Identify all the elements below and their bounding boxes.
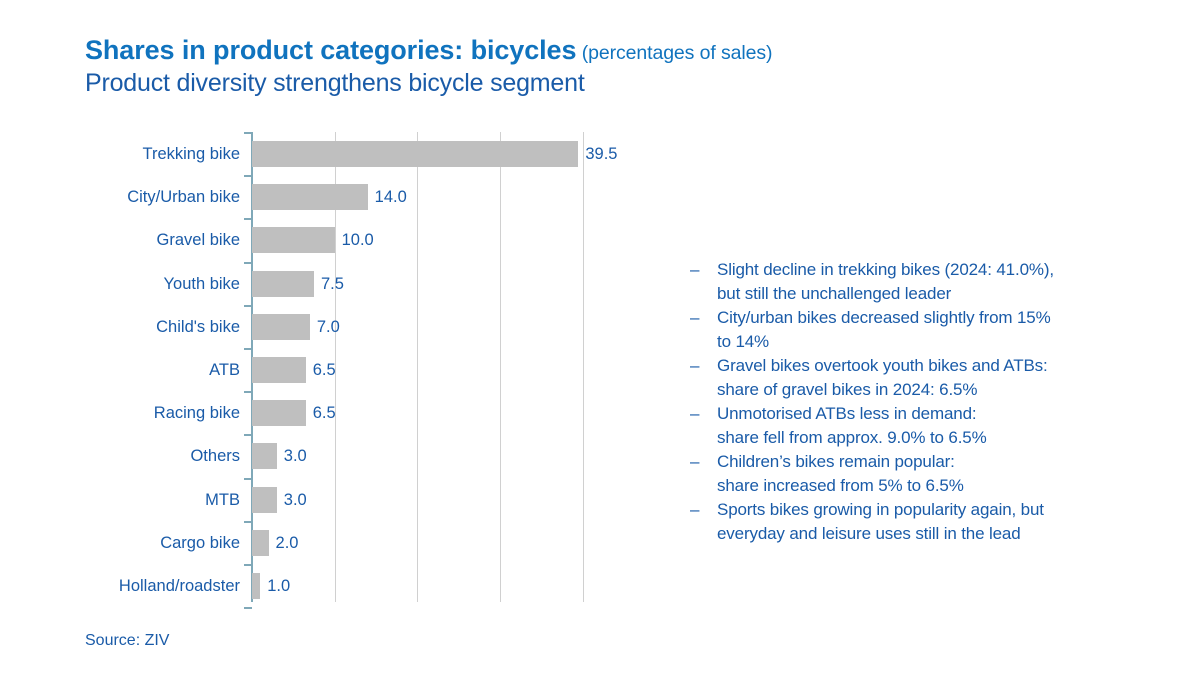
category-label: Gravel bike [0,232,240,249]
bar-value-label: 1.0 [267,573,290,599]
category-label: Trekking bike [0,146,240,163]
bar-value-label: 39.5 [585,141,617,167]
bar-value-label: 2.0 [276,530,299,556]
bar[interactable] [252,141,578,167]
category-label: Holland/roadster [0,578,240,595]
list-item: –Gravel bikes overtook youth bikes and A… [690,354,1150,402]
list-item: –Unmotorised ATBs less in demand: share … [690,402,1150,450]
list-item-text: Unmotorised ATBs less in demand: share f… [717,402,1150,450]
category-label: Cargo bike [0,535,240,552]
source-note: Source: ZIV [85,632,169,650]
bar[interactable] [252,271,314,297]
category-label: ATB [0,362,240,379]
bar-value-label: 6.5 [313,357,336,383]
bar[interactable] [252,487,277,513]
axis-tick [244,478,252,480]
bar[interactable] [252,184,368,210]
axis-tick [244,305,252,307]
commentary-list: –Slight decline in trekking bikes (2024:… [690,258,1150,546]
bar-value-label: 14.0 [375,184,407,210]
bullet-dash-icon: – [690,450,699,474]
axis-tick [244,607,252,609]
gridline [583,132,584,602]
bullet-dash-icon: – [690,258,699,282]
plot-area: 39.514.010.07.57.06.56.53.03.02.01.0 [252,132,652,602]
bar-value-label: 3.0 [284,487,307,513]
axis-tick [244,175,252,177]
page-title-main: Shares in product categories: bicycles [85,35,576,65]
bar-value-label: 7.5 [321,271,344,297]
list-item-text: City/urban bikes decreased slightly from… [717,306,1150,354]
bar-value-label: 10.0 [342,227,374,253]
category-label: City/Urban bike [0,189,240,206]
category-label: Others [0,448,240,465]
bar[interactable] [252,314,310,340]
axis-tick [244,132,252,134]
gridline [500,132,501,602]
list-item: –Sports bikes growing in popularity agai… [690,498,1150,546]
page-title-suffix: (percentages of sales) [576,42,772,64]
category-label: MTB [0,492,240,509]
list-item-text: Children’s bikes remain popular: share i… [717,450,1150,498]
bar[interactable] [252,357,306,383]
axis-tick [244,218,252,220]
axis-tick [244,348,252,350]
axis-tick [244,564,252,566]
list-item: –Slight decline in trekking bikes (2024:… [690,258,1150,306]
axis-tick [244,391,252,393]
axis-tick [244,262,252,264]
page-title: Shares in product categories: bicycles (… [85,36,1145,64]
bar-value-label: 3.0 [284,443,307,469]
axis-tick [244,434,252,436]
bullet-dash-icon: – [690,354,699,378]
category-axis-labels: Trekking bikeCity/Urban bikeGravel bikeY… [0,132,240,602]
bar[interactable] [252,400,306,426]
bar-value-label: 6.5 [313,400,336,426]
bullet-dash-icon: – [690,498,699,522]
category-label: Child's bike [0,319,240,336]
list-item-text: Gravel bikes overtook youth bikes and AT… [717,354,1150,402]
bar[interactable] [252,573,260,599]
page-subtitle: Product diversity strengthens bicycle se… [85,70,1145,98]
list-item-text: Slight decline in trekking bikes (2024: … [717,258,1150,306]
bullet-dash-icon: – [690,306,699,330]
axis-tick [244,521,252,523]
category-label: Youth bike [0,276,240,293]
slide-header: Shares in product categories: bicycles (… [85,36,1145,98]
category-label: Racing bike [0,405,240,422]
list-item: –Children’s bikes remain popular: share … [690,450,1150,498]
list-item: –City/urban bikes decreased slightly fro… [690,306,1150,354]
bar-chart: Trekking bikeCity/Urban bikeGravel bikeY… [0,132,660,610]
bar[interactable] [252,443,277,469]
list-item-text: Sports bikes growing in popularity again… [717,498,1150,546]
bullet-dash-icon: – [690,402,699,426]
bar-value-label: 7.0 [317,314,340,340]
gridline [417,132,418,602]
bar[interactable] [252,227,335,253]
bar[interactable] [252,530,269,556]
